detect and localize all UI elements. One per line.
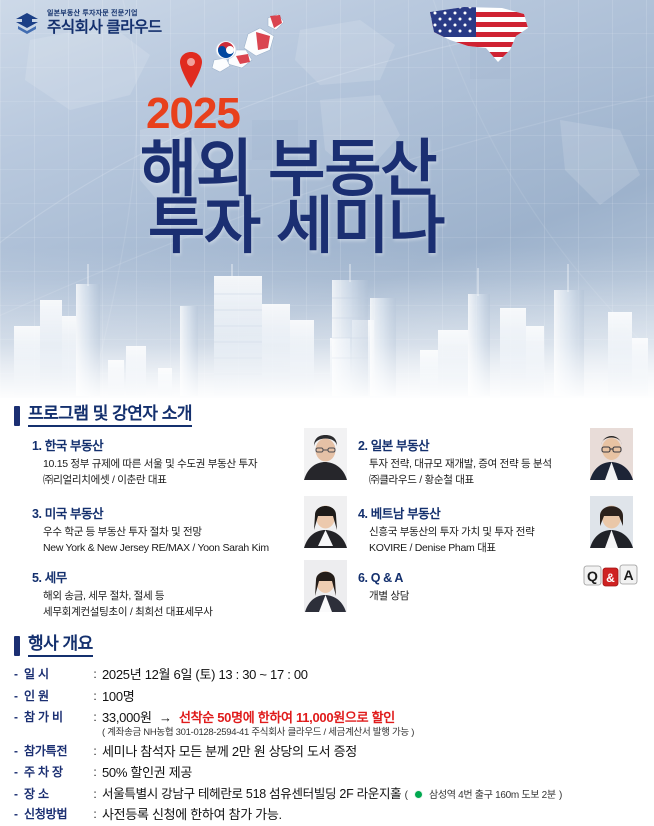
row-colon: :	[88, 787, 102, 802]
program-item-1: 1. 한국 부동산 10.15 정부 규제에 따른 서울 및 수도권 부동산 투…	[32, 439, 328, 487]
hero-banner: 2025 해외 부동산 투자 세미나 일본부동산 투자자문 전문기업 주식회사 …	[0, 0, 654, 398]
program-item-number: 6.	[358, 571, 368, 585]
svg-text:Q: Q	[587, 568, 598, 584]
row-value: 사전등록 신청에 한하여 참가 가능.	[102, 807, 282, 823]
company-name: 주식회사 클라우드	[47, 20, 162, 36]
company-tagline: 일본부동산 투자자문 전문기업	[47, 10, 162, 17]
row-label: 주 차 장	[24, 765, 88, 780]
section-marker-bar	[14, 406, 20, 426]
row-label: 참 가 비	[24, 710, 88, 725]
overview-row-benefit: - 참가특전 : 세미나 참석자 모든 분께 2만 원 상당의 도서 증정	[14, 744, 640, 760]
row-label: 인 원	[24, 689, 88, 704]
overview-rows: - 일 시 : 2025년 12월 6일 (토) 13 : 30 ~ 17 : …	[14, 667, 640, 823]
program-section-header: 프로그램 및 강연자 소개	[14, 404, 640, 427]
program-item-number: 2.	[358, 439, 368, 453]
speaker-photo-3	[304, 496, 347, 548]
fee-arrow-icon: →	[155, 710, 176, 725]
row-dash: -	[14, 765, 24, 780]
row-value: 세미나 참석자 모든 분께 2만 원 상당의 도서 증정	[102, 744, 357, 760]
row-value: 2025년 12월 6일 (토) 13 : 30 ~ 17 : 00	[102, 667, 308, 683]
row-value: 서울특별시 강남구 테헤란로 518 섬유센터빌딩 2F 라운지홀 ( 삼성역 …	[102, 787, 562, 803]
program-item-5: 5. 세무 해외 송금, 세무 절차, 절세 등 세무회계컨설팅초이 / 최희선…	[32, 571, 328, 619]
venue-metro-note: 삼성역 4번 출구 160m 도보 2분	[429, 790, 556, 801]
row-dash: -	[14, 689, 24, 704]
speaker-photo-1	[304, 428, 347, 480]
venue-paren-close: )	[559, 790, 562, 801]
overview-heading: 행사 개요	[28, 634, 93, 657]
program-item-desc: 우수 학군 등 부동산 투자 절차 및 전망	[32, 526, 328, 540]
program-item-name: Q & A	[371, 571, 403, 585]
speaker-photo-2	[590, 428, 633, 480]
hero-year: 2025	[146, 92, 620, 136]
program-item-title: 5. 세무	[32, 571, 328, 587]
row-dash: -	[14, 807, 24, 822]
fee-account-note: ( 계좌송금 NH농협 301-0128-2594-41 주식회사 클라우드 /…	[102, 727, 414, 739]
row-dash: -	[14, 787, 24, 802]
program-item-name: 세무	[45, 571, 67, 585]
qa-blocks-icon: Q & A	[583, 562, 641, 590]
us-flag-map-icon	[424, 2, 536, 66]
venue-paren-open: (	[405, 790, 408, 801]
program-item-name: 미국 부동산	[45, 507, 104, 521]
program-item-number: 4.	[358, 507, 368, 521]
program-heading: 프로그램 및 강연자 소개	[28, 404, 192, 427]
overview-row-venue: - 장 소 : 서울특별시 강남구 테헤란로 518 섬유센터빌딩 2F 라운지…	[14, 787, 640, 803]
speaker-photo-4	[590, 496, 633, 548]
program-item-speaker: New York & New Jersey RE/MAX / Yoon Sara…	[32, 542, 328, 556]
row-colon: :	[88, 765, 102, 780]
program-item-desc: 개별 상담	[358, 590, 654, 604]
svg-text:A: A	[623, 567, 633, 583]
section-marker-bar	[14, 636, 20, 656]
row-colon: :	[88, 667, 102, 682]
program-item-3: 3. 미국 부동산 우수 학군 등 부동산 투자 절차 및 전망 New Yor…	[32, 507, 328, 555]
program-item-name: 베트남 부동산	[371, 507, 441, 521]
row-colon: :	[88, 689, 102, 704]
row-colon: :	[88, 807, 102, 822]
row-value: 100명	[102, 689, 134, 705]
overview-row-fee: - 참 가 비 : 33,000원 → 선착순 50명에 한하여 11,000원…	[14, 710, 640, 739]
program-item-number: 1.	[32, 439, 42, 453]
row-value: 33,000원 → 선착순 50명에 한하여 11,000원으로 할인	[102, 710, 414, 726]
program-item-name: 한국 부동산	[45, 439, 104, 453]
program-item-title: 3. 미국 부동산	[32, 507, 328, 523]
row-value: 50% 할인권 제공	[102, 765, 192, 781]
hero-title-line-2: 투자 세미나	[148, 195, 620, 258]
row-dash: -	[14, 667, 24, 682]
overview-section: 행사 개요 - 일 시 : 2025년 12월 6일 (토) 13 : 30 ~…	[14, 634, 640, 826]
overview-row-parking: - 주 차 장 : 50% 할인권 제공	[14, 765, 640, 781]
program-item-name: 일본 부동산	[371, 439, 430, 453]
cloud-logo-icon	[14, 10, 40, 36]
company-logo[interactable]: 일본부동산 투자자문 전문기업 주식회사 클라우드	[14, 10, 162, 36]
program-item-speaker: 세무회계컨설팅초이 / 최희선 대표세무사	[32, 606, 328, 620]
overview-row-datetime: - 일 시 : 2025년 12월 6일 (토) 13 : 30 ~ 17 : …	[14, 667, 640, 683]
overview-row-how-to-apply: - 신청방법 : 사전등록 신청에 한하여 참가 가능.	[14, 807, 640, 823]
row-label: 신청방법	[24, 807, 88, 822]
fee-original: 33,000원	[102, 710, 152, 725]
japan-flag-map-icon	[190, 6, 294, 88]
overview-section-header: 행사 개요	[14, 634, 640, 657]
row-dash: -	[14, 710, 24, 725]
program-item-desc: 해외 송금, 세무 절차, 절세 등	[32, 590, 328, 604]
overview-row-capacity: - 인 원 : 100명	[14, 689, 640, 705]
row-label: 일 시	[24, 667, 88, 682]
row-colon: :	[88, 710, 102, 725]
hero-title-block: 2025 해외 부동산 투자 세미나	[140, 92, 620, 258]
program-item-number: 5.	[32, 571, 42, 585]
fee-discount: 선착순 50명에 한하여 11,000원으로 할인	[179, 710, 395, 725]
row-label: 장 소	[24, 787, 88, 802]
korea-location-pin-icon	[178, 50, 204, 90]
program-item-number: 3.	[32, 507, 42, 521]
program-item-desc: 10.15 정부 규제에 따른 서울 및 수도권 부동산 투자	[32, 458, 328, 472]
hero-bottom-fade	[0, 278, 654, 398]
seminar-poster: 2025 해외 부동산 투자 세미나 일본부동산 투자자문 전문기업 주식회사 …	[0, 0, 654, 826]
row-colon: :	[88, 744, 102, 759]
svg-text:&: &	[606, 571, 615, 585]
venue-address: 서울특별시 강남구 테헤란로 518 섬유센터빌딩 2F 라운지홀	[102, 787, 401, 801]
program-item-speaker: ㈜리얼리치에셋 / 이춘란 대표	[32, 474, 328, 488]
speaker-photo-5	[304, 560, 347, 612]
row-label: 참가특전	[24, 744, 88, 759]
program-item-title: 1. 한국 부동산	[32, 439, 328, 455]
row-dash: -	[14, 744, 24, 759]
metro-line-icon	[414, 790, 423, 799]
